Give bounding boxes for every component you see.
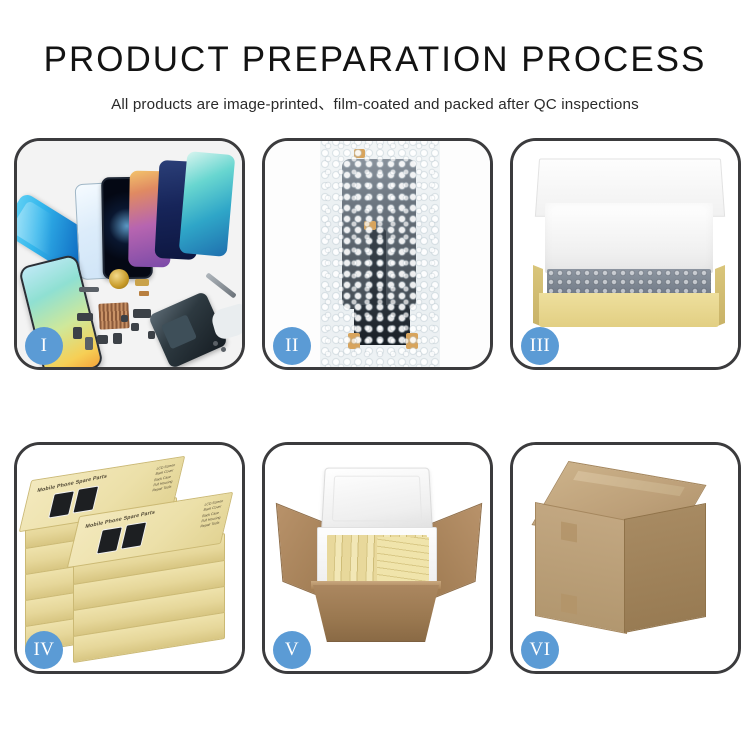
step-badge: II [273,327,311,365]
inner-boxes-stacked-icon [377,537,429,581]
page-subtitle: All products are image-printed、film-coat… [0,92,750,114]
panel-bubble-wrapped: II [262,138,493,370]
page-title: PRODUCT PREPARATION PROCESS [0,42,750,79]
foam-sheet-icon [545,203,713,273]
carton-left-face [535,502,627,634]
step-badge: IV [25,631,63,669]
step-badge: I [25,327,63,365]
panel-sealed-carton: VI [510,442,741,674]
poster-root: PRODUCT PREPARATION PROCESS All products… [0,0,750,750]
speaker-coil-icon [109,269,129,289]
header: PRODUCT PREPARATION PROCESS All products… [0,0,750,114]
panel-open-inner-box: III [510,138,741,370]
box-checklist: LCD Screen Back Cover Back Case Full Hou… [200,499,224,530]
carton-seam-bottom [561,593,577,614]
step-badge: III [521,327,559,365]
step-badge: VI [521,631,559,669]
panel-foam-cooler-carton: V [262,442,493,674]
carton-body-icon [313,585,439,642]
panel-parts-collage: I [14,138,245,370]
foam-cooler-lid-icon [321,468,433,531]
phone-teal-icon [179,151,236,257]
process-grid: I [14,138,740,674]
box-checklist: LCD Screen Back Cover Back Case Full Hou… [152,463,176,494]
bubble-bag-icon [320,141,440,367]
carton-seam-top [561,521,577,542]
panel-stacked-boxes: Mobile Phone Spare Parts LCD Screen Back… [14,442,245,674]
kraft-box-front-icon [539,293,719,327]
step-badge: V [273,631,311,669]
carton-right-face [624,503,706,633]
